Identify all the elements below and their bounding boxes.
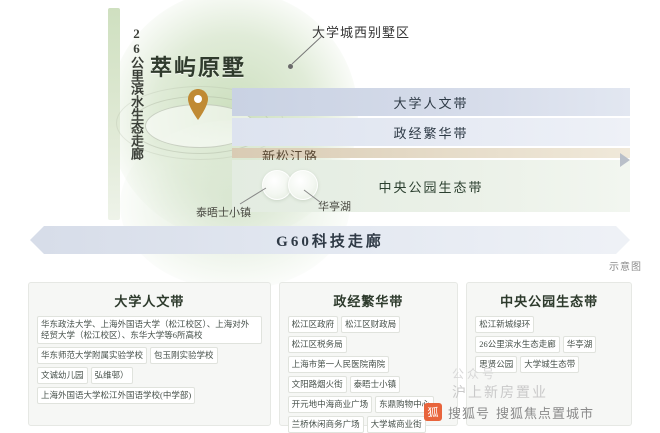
chip-row: 松江新城绿环 xyxy=(475,316,623,333)
g60-label: G60科技走廊 xyxy=(30,226,630,254)
leader-dot xyxy=(288,64,293,69)
screenshot-root: 26公里滨水生态走廊 萃屿原墅 大学城西别墅区 大学人文带 政经繁华带 新松江路… xyxy=(0,0,660,426)
chip-row: 文阳路烟火街 泰晤士小镇 xyxy=(288,376,450,393)
chip: 松江区税务局 xyxy=(288,336,347,353)
chip: 上海外国语大学松江外国语学校(中学部) xyxy=(37,387,195,404)
sohu-logo-icon: 狐 xyxy=(424,403,442,421)
chip: 上海市第一人民医院南院 xyxy=(288,356,390,373)
chip-row: 上海外国语大学松江外国语学校(中学部) xyxy=(37,387,262,404)
chip: 包玉刚实验学校 xyxy=(150,347,218,364)
chip: 大学城商业街 xyxy=(367,416,426,433)
map-pin-icon xyxy=(186,88,210,122)
band-university-culture: 大学人文带 xyxy=(232,88,630,116)
villa-zone-label: 大学城西别墅区 xyxy=(312,22,410,41)
legend-note: 示意图 xyxy=(609,258,642,273)
chip: 兰桥休闲商务广场 xyxy=(288,416,364,433)
band-political-economic: 政经繁华带 xyxy=(232,118,630,146)
panel-title: 大学人文带 xyxy=(37,291,262,310)
chip: 文阳路烟火街 xyxy=(288,376,347,393)
chip-row: 上海市第一人民医院南院 xyxy=(288,356,450,373)
chip: 开元地中海商业广场 xyxy=(288,396,373,413)
watermark-brand: 搜狐号 xyxy=(448,403,490,422)
diagram-area: 26公里滨水生态走廊 萃屿原墅 大学城西别墅区 大学人文带 政经繁华带 新松江路… xyxy=(0,0,660,272)
chip-row: 文诚幼儿园 弘维邨） xyxy=(37,367,262,384)
leader-line xyxy=(286,34,326,68)
label-huating-lake: 华亭湖 xyxy=(318,198,351,214)
project-title: 萃屿原墅 xyxy=(150,50,246,82)
chip: 泰晤士小镇 xyxy=(350,376,401,393)
g60-corridor: G60科技走廊 xyxy=(30,226,630,254)
chip: 文诚幼儿园 xyxy=(37,367,88,384)
chip: 华亭湖 xyxy=(563,336,597,353)
panel-title: 中央公园生态带 xyxy=(475,291,623,310)
watermark-brand-sub: 搜狐焦点置城市 xyxy=(496,403,594,422)
chip-row: 华东政法大学、上海外国语大学（松江校区）、上海对外经贸大学（松江校区）、东华大学… xyxy=(37,316,262,344)
chip: 松江新城绿环 xyxy=(475,316,534,333)
chip: 松江区财政局 xyxy=(341,316,400,333)
chip-row: 26公里滨水生态走廊 华亭湖 xyxy=(475,336,623,353)
watermark-brand-bar: 狐 搜狐号 搜狐焦点置城市 xyxy=(424,398,660,426)
watermark-wechat-label: 公众号 xyxy=(452,365,497,382)
chip-row: 华东师范大学附属实验学校 包玉刚实验学校 xyxy=(37,347,262,364)
chip: 华东政法大学、上海外国语大学（松江校区）、上海对外经贸大学（松江校区）、东华大学… xyxy=(37,316,262,344)
chip: 弘维邨） xyxy=(91,367,133,384)
chip-row: 思贤公园 大学城生态带 xyxy=(475,356,623,373)
road-arrow-icon xyxy=(620,153,630,167)
label-thames-town: 泰晤士小镇 xyxy=(196,204,251,220)
panel-title: 政经繁华带 xyxy=(288,291,450,310)
chip: 26公里滨水生态走廊 xyxy=(475,336,560,353)
panel-university-culture: 大学人文带 华东政法大学、上海外国语大学（松江校区）、上海对外经贸大学（松江校区… xyxy=(28,282,271,426)
chip: 华东师范大学附属实验学校 xyxy=(37,347,147,364)
chip: 大学城生态带 xyxy=(520,356,579,373)
chip: 松江区政府 xyxy=(288,316,339,333)
chip-row: 松江区政府 松江区财政局 松江区税务局 xyxy=(288,316,450,353)
